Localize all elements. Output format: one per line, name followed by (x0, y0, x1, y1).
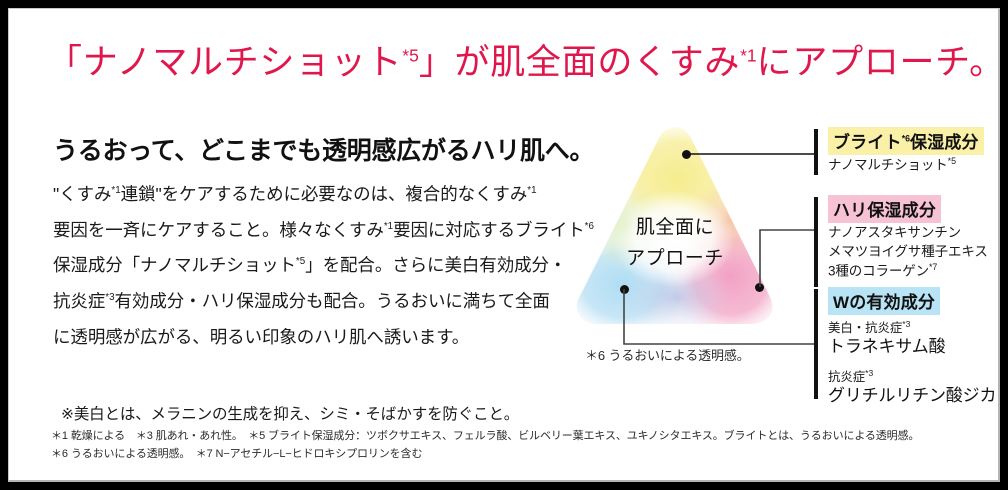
callout-item-sup: *5 (948, 156, 956, 166)
callout-item: グリチルリチン酸ジカリウム (828, 385, 1000, 407)
diagram-center-label: 肌全面に アプローチ (601, 213, 749, 275)
headline-part-1: 「ナノマルチショット (47, 43, 402, 82)
callout-item: トラネキサム酸 (828, 336, 1000, 358)
callout-title-tail: 保湿成分 (910, 133, 979, 152)
body-line: 要因を一斉にケアすること。様々なくすみ*1要因に対応するブライト*6 (53, 213, 553, 249)
footnote-line: ＊1 乾燥による ＊3 肌あれ・あれ性。 ＊5 ブライト保湿成分：ツボクサエキス… (51, 428, 919, 446)
callout-title: ブライト (833, 133, 902, 152)
callout-item: ナノアスタキサンチン (828, 223, 988, 242)
callout-title-chip: ハリ保湿成分 (828, 195, 941, 223)
diagram-node-left (620, 285, 629, 294)
callout-title: Wの有効成分 (833, 293, 935, 312)
headline-part-2: 」が肌全面のくすみ (419, 43, 740, 82)
whitening-definition-note: ※美白とは、メラニンの生成を抑え、シミ・そばかすを防ぐこと。 (61, 402, 519, 424)
callout-title-chip: ブライト*6保湿成分 (828, 127, 984, 155)
callout-bar (814, 197, 818, 287)
center-label-line-2: アプローチ (601, 244, 749, 275)
headline-sup-2: *1 (740, 45, 757, 65)
callout-subhead: 美白・抗炎症*3 (828, 319, 1000, 336)
body-line: "くすみ*1連鎖"をケアするために必要なのは、複合的なくすみ*1 (53, 177, 553, 213)
callout-item-text: メマツヨイグサ種子エキス (828, 244, 988, 259)
callout-item-text: ナノマルチショット (828, 158, 948, 173)
callout-bright: ブライト*6保湿成分 ナノマルチショット*5 (814, 127, 984, 175)
callout-item-sup: *7 (929, 262, 937, 272)
callout-subhead-text: 抗炎症 (828, 370, 865, 384)
body-line: 保湿成分「ナノマルチショット*5」を配合。さらに美白有効成分・ (53, 248, 553, 284)
ad-panel: 「ナノマルチショット*5」が肌全面のくすみ*1にアプローチ。 うるおって、どこま… (8, 8, 1000, 482)
body-line: に透明感が広がる、明るい印象のハリ肌へ誘います。 (53, 320, 553, 356)
callout-subhead-sup: *3 (902, 319, 910, 329)
callout-item: メマツヨイグサ種子エキス (828, 242, 988, 261)
diagram-footnote: ＊6 うるおいによる透明感。 (585, 345, 750, 364)
callout-subhead: 抗炎症*3 (828, 368, 1000, 385)
callout-title-chip: Wの有効成分 (828, 287, 940, 315)
callout-subhead-sup: *3 (865, 368, 873, 378)
page-title: 「ナノマルチショット*5」が肌全面のくすみ*1にアプローチ。 (47, 41, 1000, 85)
callout-item: ナノマルチショット*5 (828, 155, 984, 175)
diagram-node-right (755, 283, 764, 292)
lead-heading: うるおって、どこまでも透明感広がるハリ肌へ。 (53, 131, 594, 167)
callout-bar (814, 289, 818, 399)
footnote-block: ＊1 乾燥による ＊3 肌あれ・あれ性。 ＊5 ブライト保湿成分：ツボクサエキス… (51, 428, 919, 464)
headline-part-3: にアプローチ。 (757, 43, 1000, 82)
callout-title-sup: *6 (902, 133, 910, 143)
callout-firmness: ハリ保湿成分 ナノアスタキサンチン メマツヨイグサ種子エキス 3種のコラーゲン*… (814, 195, 988, 281)
body-line: 抗炎症*3有効成分・ハリ保湿成分も配合。うるおいに満ちて全面 (53, 284, 553, 320)
body-copy: "くすみ*1連鎖"をケアするために必要なのは、複合的なくすみ*1 要因を一斉にケ… (53, 177, 553, 355)
callout-bar (814, 129, 818, 175)
triangle-diagram: 肌全面に アプローチ ＊6 うるおいによる透明感。 (565, 117, 815, 367)
headline-sup-1: *5 (402, 45, 419, 65)
diagram-node-top (682, 150, 691, 159)
center-label-line-1: 肌全面に (601, 213, 749, 244)
callout-item-text: ナノアスタキサンチン (828, 225, 961, 240)
triangle-graphic: 肌全面に アプローチ (565, 117, 785, 347)
callout-item-text: 3種のコラーゲン (828, 264, 929, 279)
callout-subhead-text: 美白・抗炎症 (828, 321, 902, 335)
callout-active-ingredients: Wの有効成分 美白・抗炎症*3 トラネキサム酸 抗炎症*3 グリチルリチン酸ジカ… (814, 287, 1000, 407)
callout-item: 3種のコラーゲン*7 (828, 261, 988, 281)
footnote-line: ＊6 うるおいによる透明感。 ＊7 N−アセチル−L−ヒドロキシプロリンを含む (51, 446, 919, 464)
callout-title: ハリ保湿成分 (833, 201, 936, 220)
